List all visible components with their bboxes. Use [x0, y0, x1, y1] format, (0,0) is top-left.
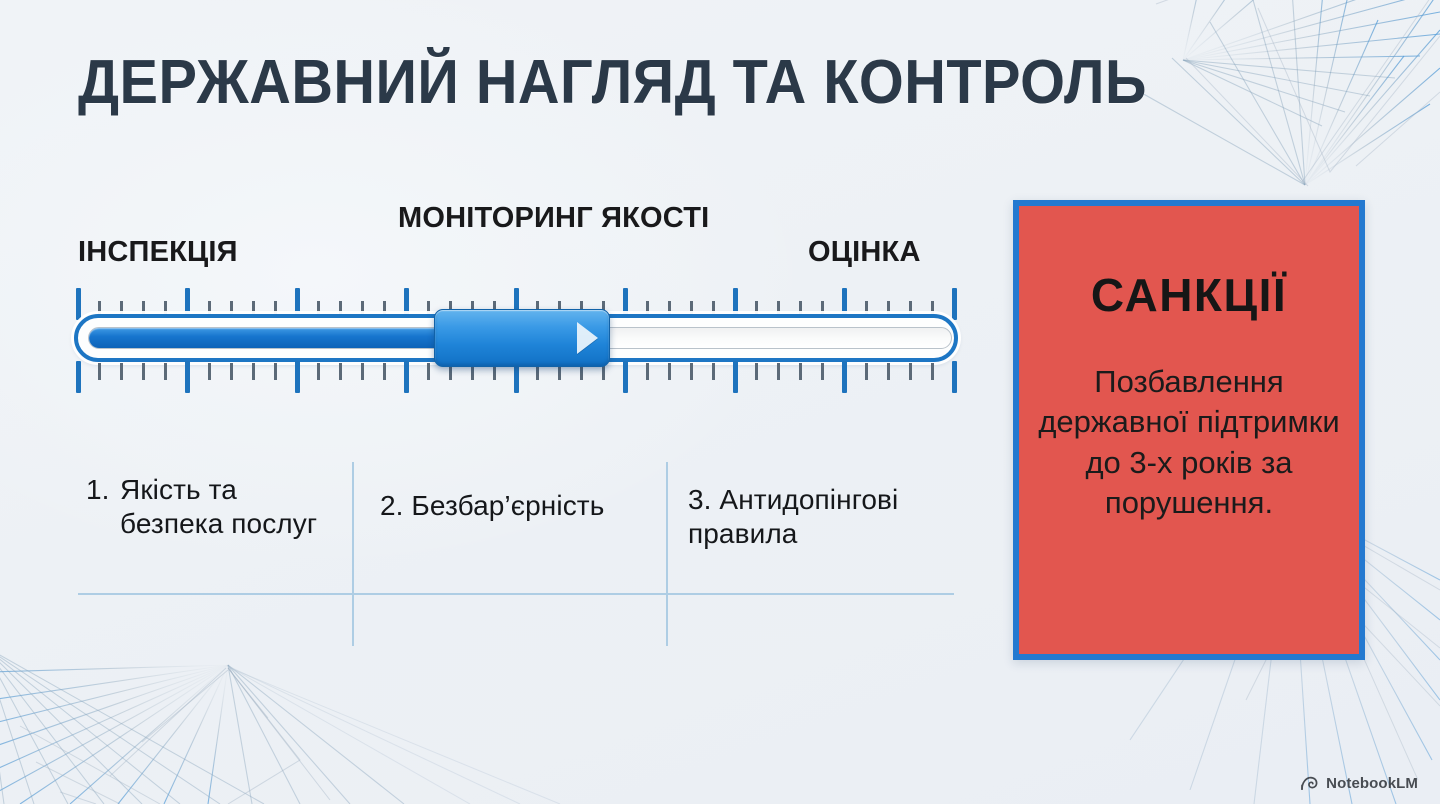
slide-title: ДЕРЖАВНИЙ НАГЛЯД ТА КОНТРОЛЬ — [78, 52, 1147, 114]
slider-label-monitoring: МОНІТОРИНГ ЯКОСТІ — [398, 203, 642, 234]
slider-tick-minor — [755, 363, 758, 380]
watermark-label: NotebookLM — [1326, 775, 1418, 792]
list-baseline-divider — [78, 593, 954, 595]
slider-tick-minor — [777, 363, 780, 380]
slider-tick-minor — [799, 363, 802, 380]
sanctions-title: САНКЦІЇ — [1091, 272, 1287, 318]
slider-label-evaluation: ОЦІНКА — [808, 237, 921, 268]
slider-tick-minor — [427, 363, 430, 380]
list-item-number: 1. — [86, 473, 120, 507]
slider-tick-minor — [712, 363, 715, 380]
slider-tick-minor — [164, 363, 167, 380]
slider-tick-major — [404, 361, 409, 393]
slider-tick-major — [76, 288, 81, 320]
slider-tick-minor — [887, 363, 890, 380]
slider-tick-minor — [909, 363, 912, 380]
slider-ticks-bottom — [78, 363, 954, 393]
sanctions-card: САНКЦІЇ Позбавлення державної підтримки … — [1013, 200, 1365, 660]
slider-tick-major — [952, 361, 957, 393]
list-column-divider — [666, 462, 668, 646]
slider-tick-minor — [646, 363, 649, 380]
slider-handle[interactable] — [434, 309, 610, 367]
slider-tick-minor — [120, 363, 123, 380]
slider-tick-major — [295, 361, 300, 393]
notebooklm-watermark: NotebookLM — [1300, 775, 1418, 792]
slider-tick-minor — [252, 363, 255, 380]
slider-tick-major — [185, 361, 190, 393]
slider-tick-major — [76, 361, 81, 393]
slider-tick-minor — [383, 363, 386, 380]
slider-tick-minor — [690, 363, 693, 380]
slider-tick-minor — [821, 363, 824, 380]
slider-tick-major — [733, 361, 738, 393]
slider-tick-minor — [931, 363, 934, 380]
slider-tick-minor — [274, 363, 277, 380]
slider-tick-minor — [98, 363, 101, 380]
notebooklm-spiral-icon — [1300, 776, 1319, 791]
list-item: 1.Якість та безпека послуг — [86, 473, 336, 540]
slider-tick-minor — [865, 363, 868, 380]
list-item: 2. Безбар’єрність — [380, 489, 650, 523]
slider-tick-major — [952, 288, 957, 320]
list-item: 3. Антидопінгові правила — [688, 483, 956, 550]
slider-tick-minor — [668, 363, 671, 380]
slider-tick-minor — [230, 363, 233, 380]
slider-label-inspection: ІНСПЕКЦІЯ — [78, 237, 238, 268]
sanctions-body: Позбавлення державної підтримки до 3-х р… — [1019, 362, 1359, 523]
slider-tick-minor — [339, 363, 342, 380]
slider-tick-minor — [361, 363, 364, 380]
slider-tick-minor — [142, 363, 145, 380]
slider-tick-major — [842, 361, 847, 393]
play-arrow-icon — [577, 322, 598, 354]
slider-tick-minor — [208, 363, 211, 380]
list-column-divider — [352, 462, 354, 646]
list-item-label: Якість та безпека послуг — [120, 473, 318, 540]
slider-tick-minor — [317, 363, 320, 380]
slider-tick-major — [623, 361, 628, 393]
